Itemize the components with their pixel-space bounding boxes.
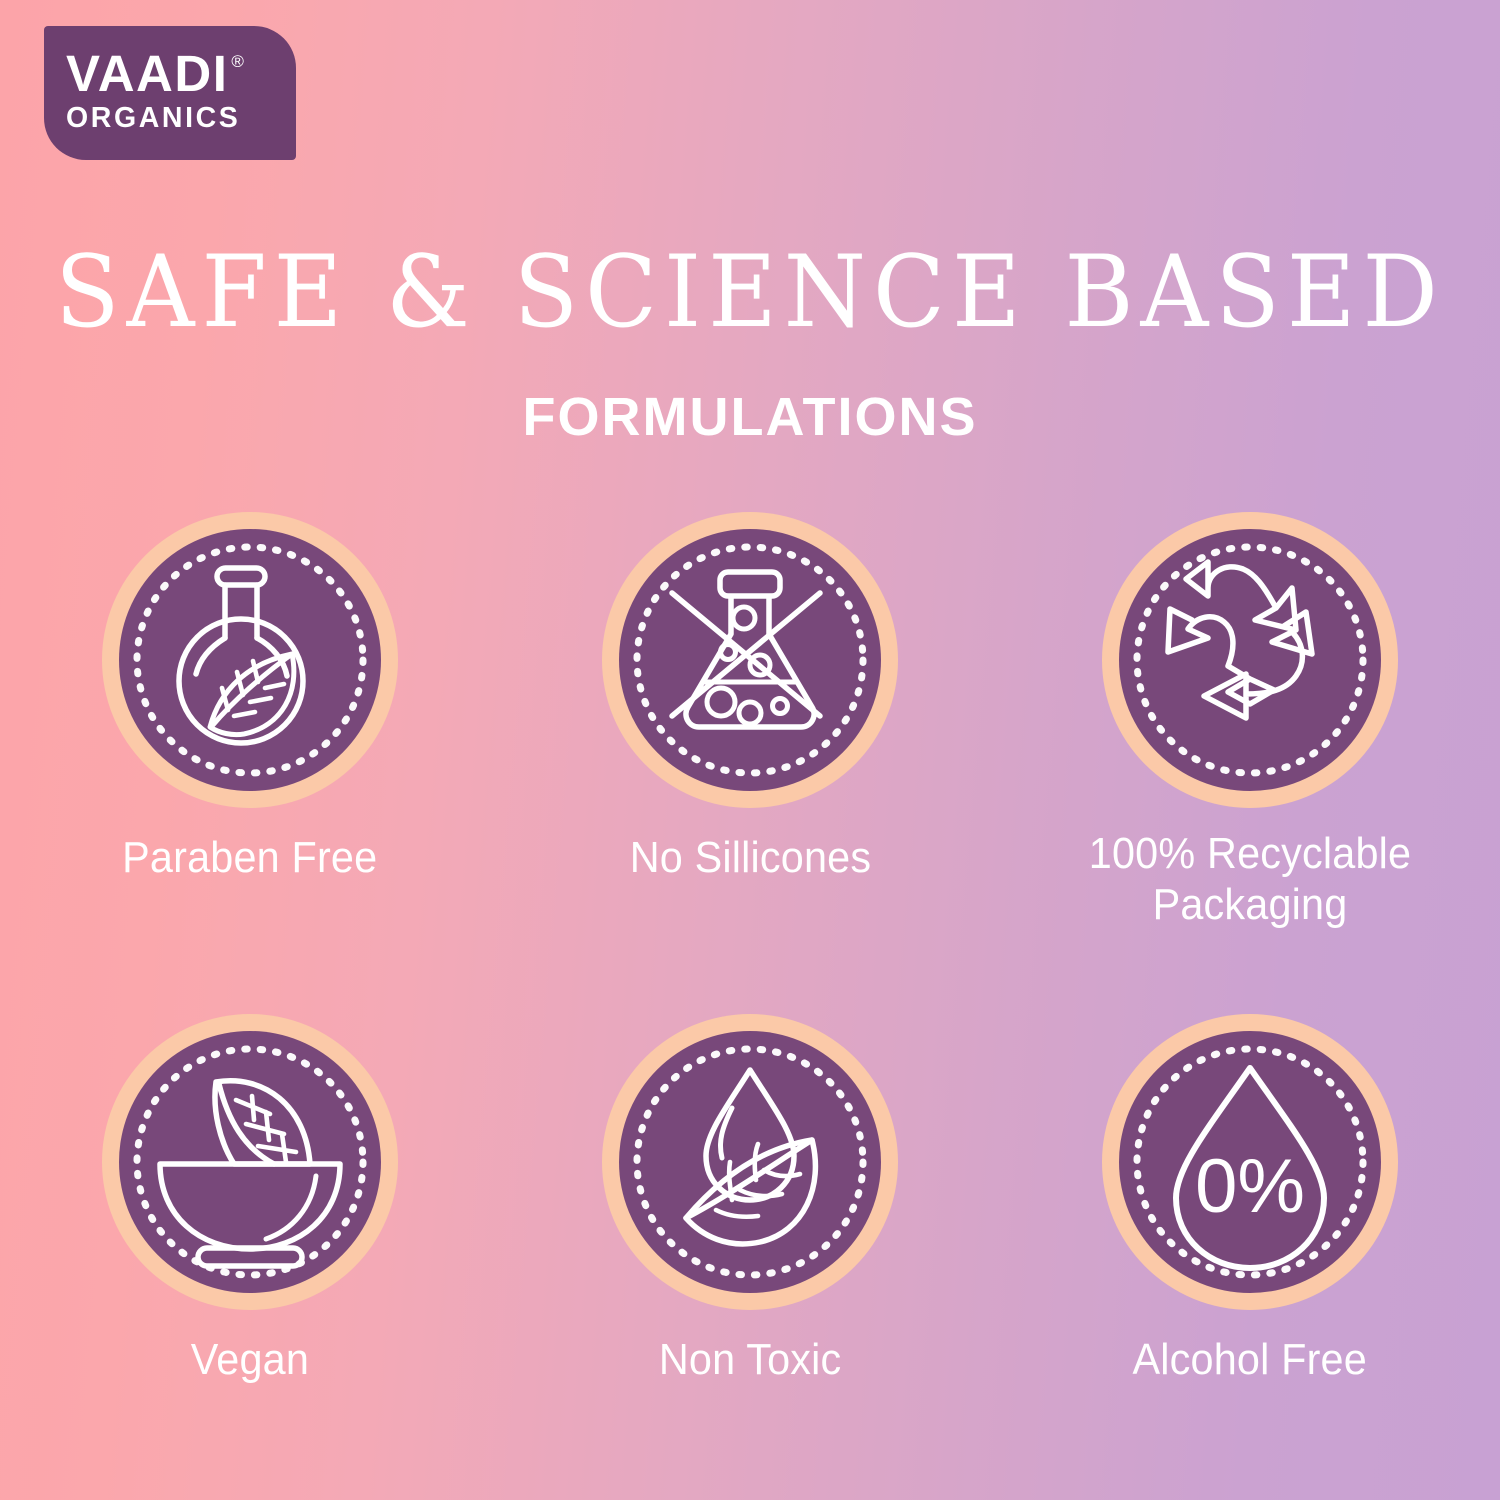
page-title: SAFE & SCIENCE BASED (0, 243, 1500, 343)
claim-label: Non Toxic (659, 1334, 842, 1385)
badge-face (119, 1031, 381, 1293)
claim-label: Paraben Free (122, 832, 377, 883)
flask-leaf-icon (124, 534, 376, 786)
claim-item-recyclable-packaging: 100% Recyclable Packaging (1000, 512, 1500, 922)
claims-grid: Paraben Free (0, 512, 1500, 1424)
brand-logo-wordmark-row: VAADI ® (66, 51, 296, 98)
bowl-leaf-icon (124, 1036, 376, 1288)
claim-item-non-toxic: Non Toxic (500, 1014, 1000, 1424)
promo-poster: VAADI ® ORGANICS SAFE & SCIENCE BASED FO… (0, 0, 1500, 1500)
brand-tagline: ORGANICS (66, 102, 296, 135)
claim-label: Vegan (191, 1334, 309, 1385)
claim-label: No Sillicones (629, 832, 871, 883)
badge-ring (102, 1014, 398, 1310)
droplet-zero-percent-icon: 0% (1124, 1036, 1376, 1288)
badge-ring (102, 512, 398, 808)
claim-item-no-sillicones: No Sillicones (500, 512, 1000, 922)
badge-face (119, 529, 381, 791)
badge-face (619, 529, 881, 791)
brand-logo: VAADI ® ORGANICS (44, 26, 296, 160)
recycle-arrows-icon (1124, 534, 1376, 786)
badge-face (1119, 529, 1381, 791)
claim-item-vegan: Vegan (0, 1014, 500, 1424)
badge-ring (602, 1014, 898, 1310)
droplet-leaf-icon (624, 1036, 876, 1288)
badge-ring (1102, 512, 1398, 808)
crossed-flask-icon (624, 534, 876, 786)
claim-label: Alcohol Free (1133, 1334, 1367, 1385)
badge-face (619, 1031, 881, 1293)
claim-item-paraben-free: Paraben Free (0, 512, 500, 922)
brand-name: VAADI (66, 51, 228, 98)
page-subtitle: FORMULATIONS (0, 386, 1500, 448)
droplet-value-text: 0% (1195, 1144, 1305, 1229)
registered-trademark-icon: ® (231, 54, 244, 70)
badge-ring: 0% (1102, 1014, 1398, 1310)
claim-label: 100% Recyclable Packaging (1048, 828, 1452, 931)
claim-item-alcohol-free: 0% Alcohol Free (1000, 1014, 1500, 1424)
badge-ring (602, 512, 898, 808)
badge-face: 0% (1119, 1031, 1381, 1293)
